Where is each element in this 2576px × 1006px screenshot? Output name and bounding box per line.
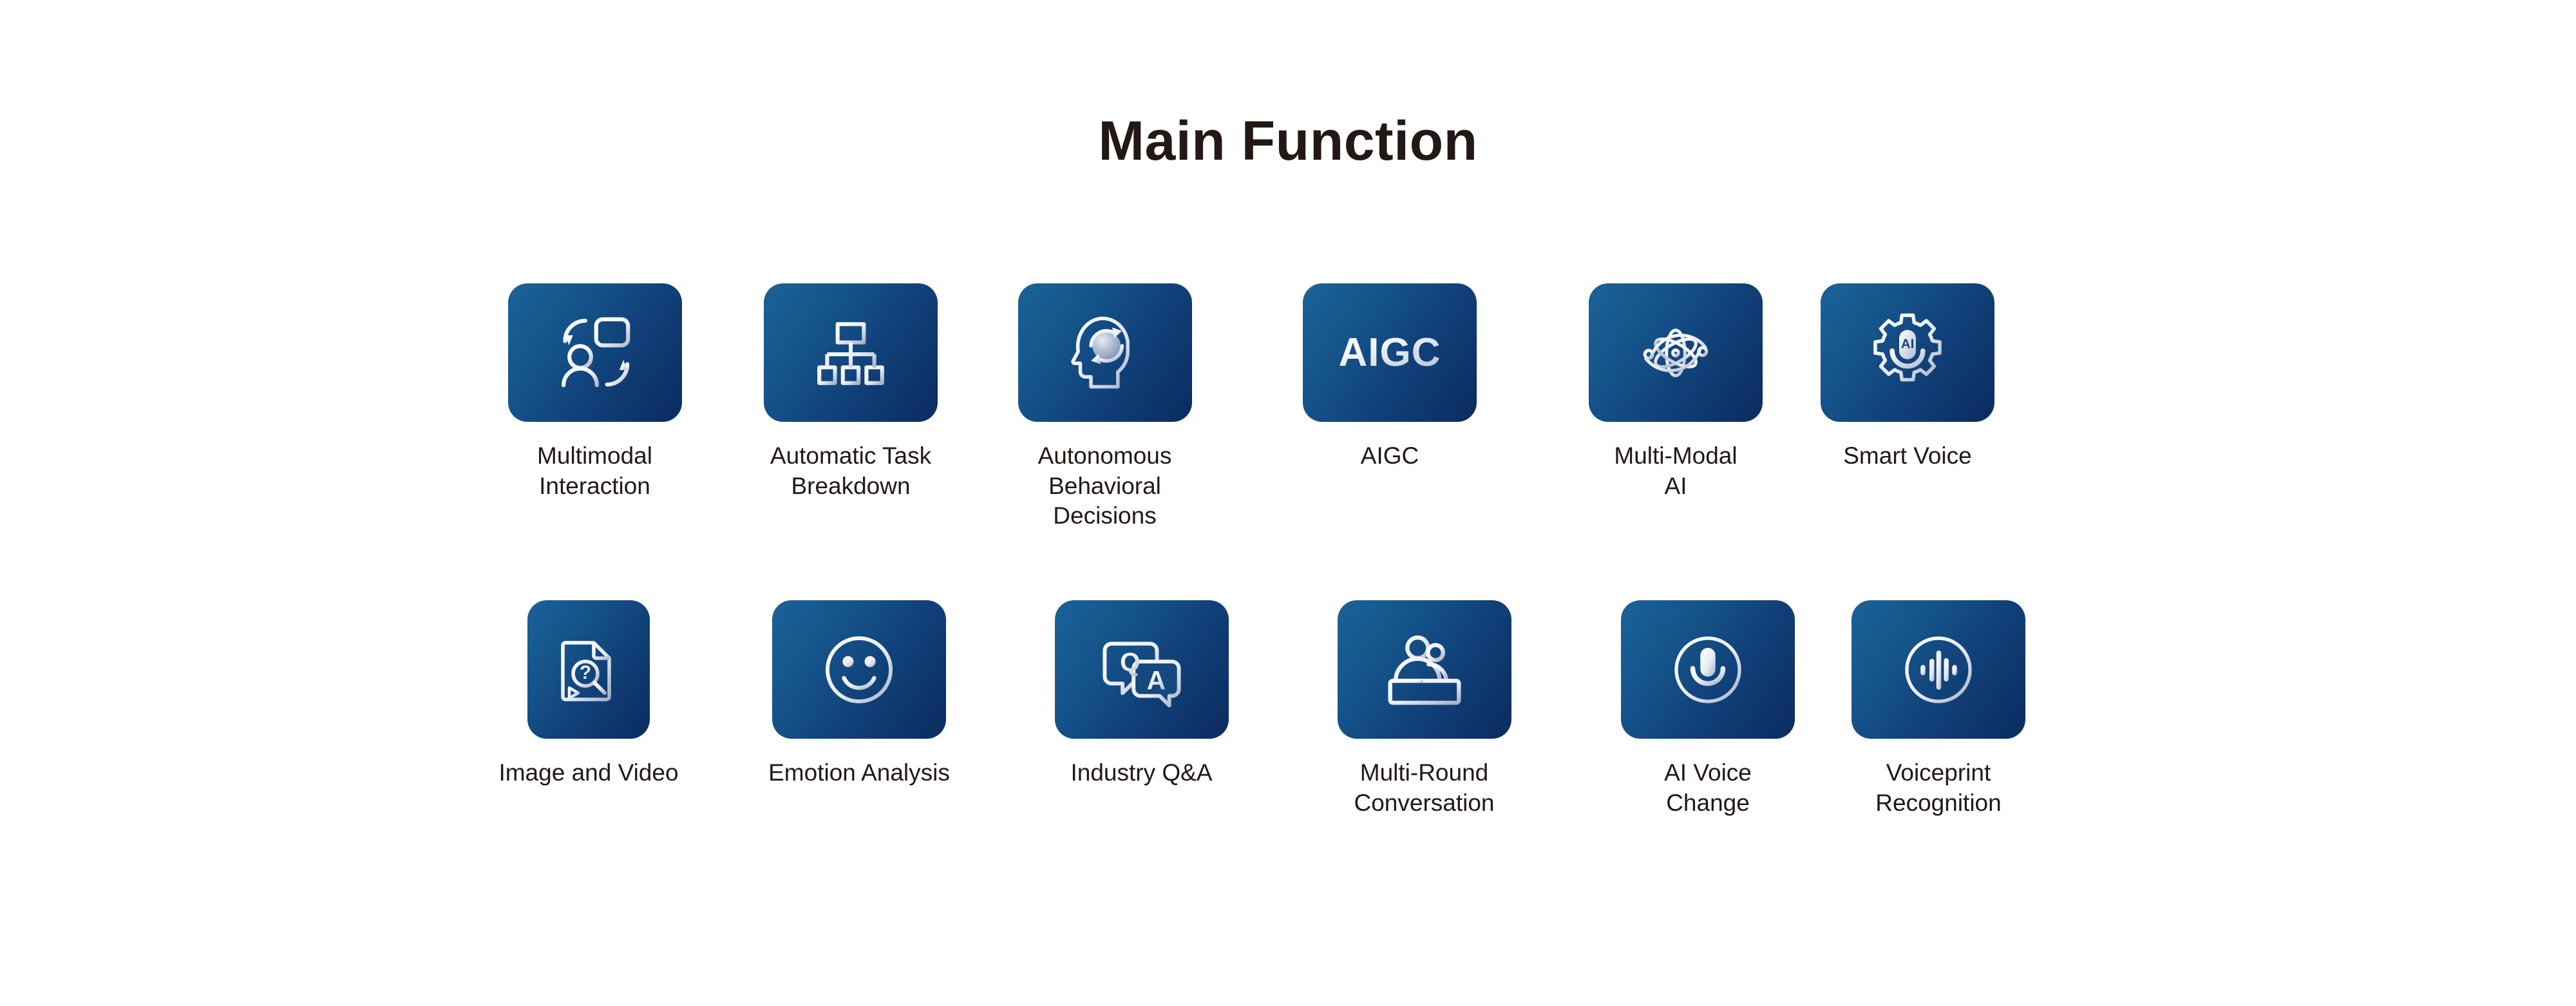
feature-tile[interactable] [1621,600,1795,739]
feature-label: Smart Voice [1843,441,1971,471]
feature-label: AI Voice Change [1664,758,1752,818]
feature-tile[interactable] [508,283,682,422]
feature-tile[interactable]: AI [1821,283,1994,422]
microphone-circle-icon [1667,629,1749,711]
feature-tile[interactable] [1851,600,2025,739]
feature-label: AIGC [1361,441,1419,471]
feature-grid: Multimodal Interaction [451,283,2125,818]
feature-item-multimodal-interaction[interactable]: Multimodal Interaction [451,283,739,501]
feature-label: Multi-Round Conversation [1354,758,1494,818]
a-label: A [1146,665,1165,694]
people-desk-icon [1383,629,1466,711]
head-refresh-icon [1063,310,1148,395]
smiley-face-icon [818,629,900,711]
feature-tile[interactable] [1018,283,1192,422]
feature-label: Voiceprint Recognition [1875,758,2001,818]
feature-item-industry-qa[interactable]: Q A Industry Q&A [1001,600,1282,788]
feature-tile[interactable]: ? [527,600,650,739]
feature-label: Industry Q&A [1070,758,1212,788]
waveform-circle-icon [1897,629,1980,711]
page-title: Main Function [0,111,2576,172]
feature-item-multi-round-conversation[interactable]: Multi-Round Conversation [1282,600,1566,818]
feature-item-emotion-analysis[interactable]: Emotion Analysis [717,600,1001,788]
feature-row-1: Multimodal Interaction [451,283,2125,573]
feature-item-smart-voice[interactable]: AI Smart Voice [1819,283,1996,471]
main-function-page: Main Function [0,0,2576,1006]
feature-label: Autonomous Behavioral Decisions [1038,441,1172,531]
atom-orbit-icon [1633,310,1718,395]
feature-label: Multimodal Interaction [537,441,652,501]
q-label: Q [1120,647,1141,677]
feature-tile[interactable] [1589,283,1763,422]
feature-item-automatic-task-breakdown[interactable]: Automatic Task Breakdown [739,283,963,501]
feature-label: Multi-Modal AI [1614,441,1737,501]
feature-item-aigc[interactable]: AIGC AIGC [1247,283,1533,471]
feature-item-autonomous-behavioral-decisions[interactable]: Autonomous Behavioral Decisions [963,283,1247,531]
feature-tile[interactable] [764,283,938,422]
ai-label: AI [1901,336,1915,351]
feature-tile[interactable]: Q A [1055,600,1229,739]
feature-item-image-and-video[interactable]: ? Image and Video [460,600,717,788]
document-search-play-icon: ? [550,631,627,708]
qa-speech-bubbles-icon: Q A [1101,629,1183,711]
multimodal-interaction-icon [551,309,638,396]
feature-row-2: ? Image and Video [460,600,2125,818]
feature-label: Automatic Task Breakdown [770,441,931,501]
feature-tile[interactable] [772,600,946,739]
feature-item-voiceprint-recognition[interactable]: Voiceprint Recognition [1850,600,2027,818]
feature-label: Emotion Analysis [768,758,950,788]
feature-tile[interactable]: AIGC [1303,283,1477,422]
aigc-text-icon: AIGC [1339,330,1441,375]
feature-item-multi-modal-ai[interactable]: Multi-Modal AI [1533,283,1819,501]
svg-text:?: ? [580,662,591,683]
task-hierarchy-icon [811,314,890,392]
feature-item-ai-voice-change[interactable]: AI Voice Change [1566,600,1850,818]
gear-microphone-ai-icon: AI [1866,311,1949,395]
feature-tile[interactable] [1338,600,1511,739]
feature-label: Image and Video [498,758,678,788]
